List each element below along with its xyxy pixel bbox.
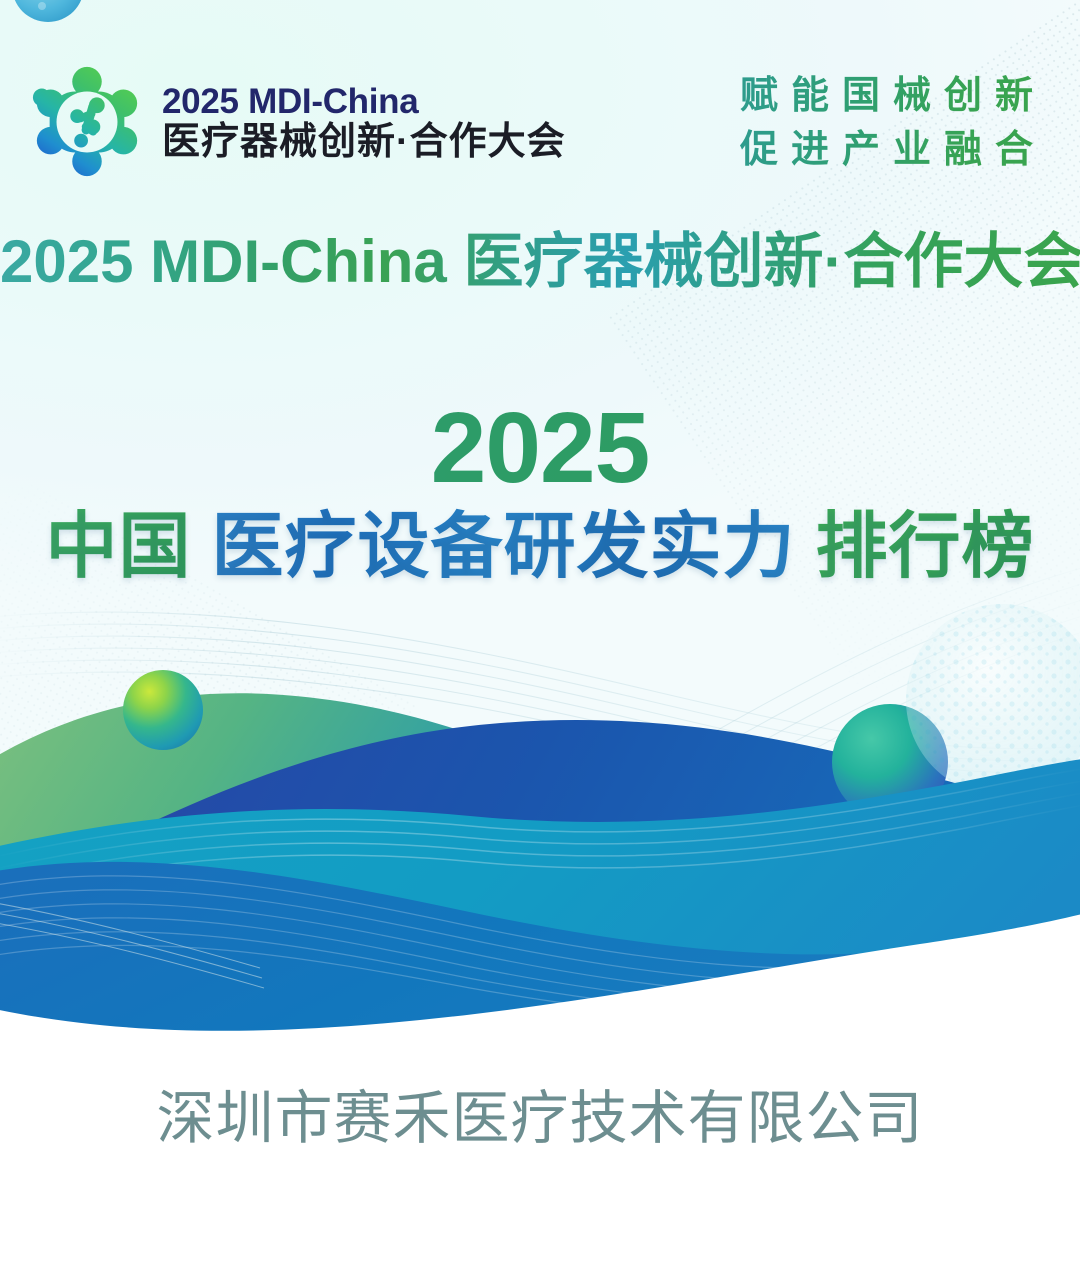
brand-text-block: 2025 MDI-China 医疗器械创新·合作大会 — [162, 79, 566, 163]
hero-headline-part2: 医疗设备研发实力 — [211, 507, 795, 587]
mdi-china-molecule-logo-icon — [28, 62, 146, 180]
hero-headline-part3: 排行榜 — [816, 507, 1035, 587]
hero-headline: 中国医疗设备研发实力排行榜 — [0, 506, 1080, 590]
slogan-line-2: 促进产业融合 — [740, 124, 1046, 178]
poster-canvas: 2025 MDI-China 医疗器械创新·合作大会 赋能国械创新 促进产业融合… — [0, 0, 1080, 1262]
slogan-block: 赋能国械创新 促进产业融合 — [740, 70, 1046, 178]
hero-headline-part1: 中国 — [45, 507, 191, 587]
poster-header: 2025 MDI-China 医疗器械创新·合作大会 赋能国械创新 促进产业融合 — [0, 62, 1080, 187]
brand-cn-title: 医疗器械创新·合作大会 — [162, 122, 566, 163]
conference-title: 2025 MDI-China 医疗器械创新·合作大会 — [0, 228, 1080, 295]
brand-en-title: 2025 MDI-China — [162, 83, 566, 120]
hero-year: 2025 — [0, 398, 1080, 498]
slogan-line-1: 赋能国械创新 — [740, 70, 1046, 124]
brand-lockup: 2025 MDI-China 医疗器械创新·合作大会 — [28, 62, 566, 180]
company-name: 深圳市赛禾医疗技术有限公司 — [0, 1085, 1080, 1153]
